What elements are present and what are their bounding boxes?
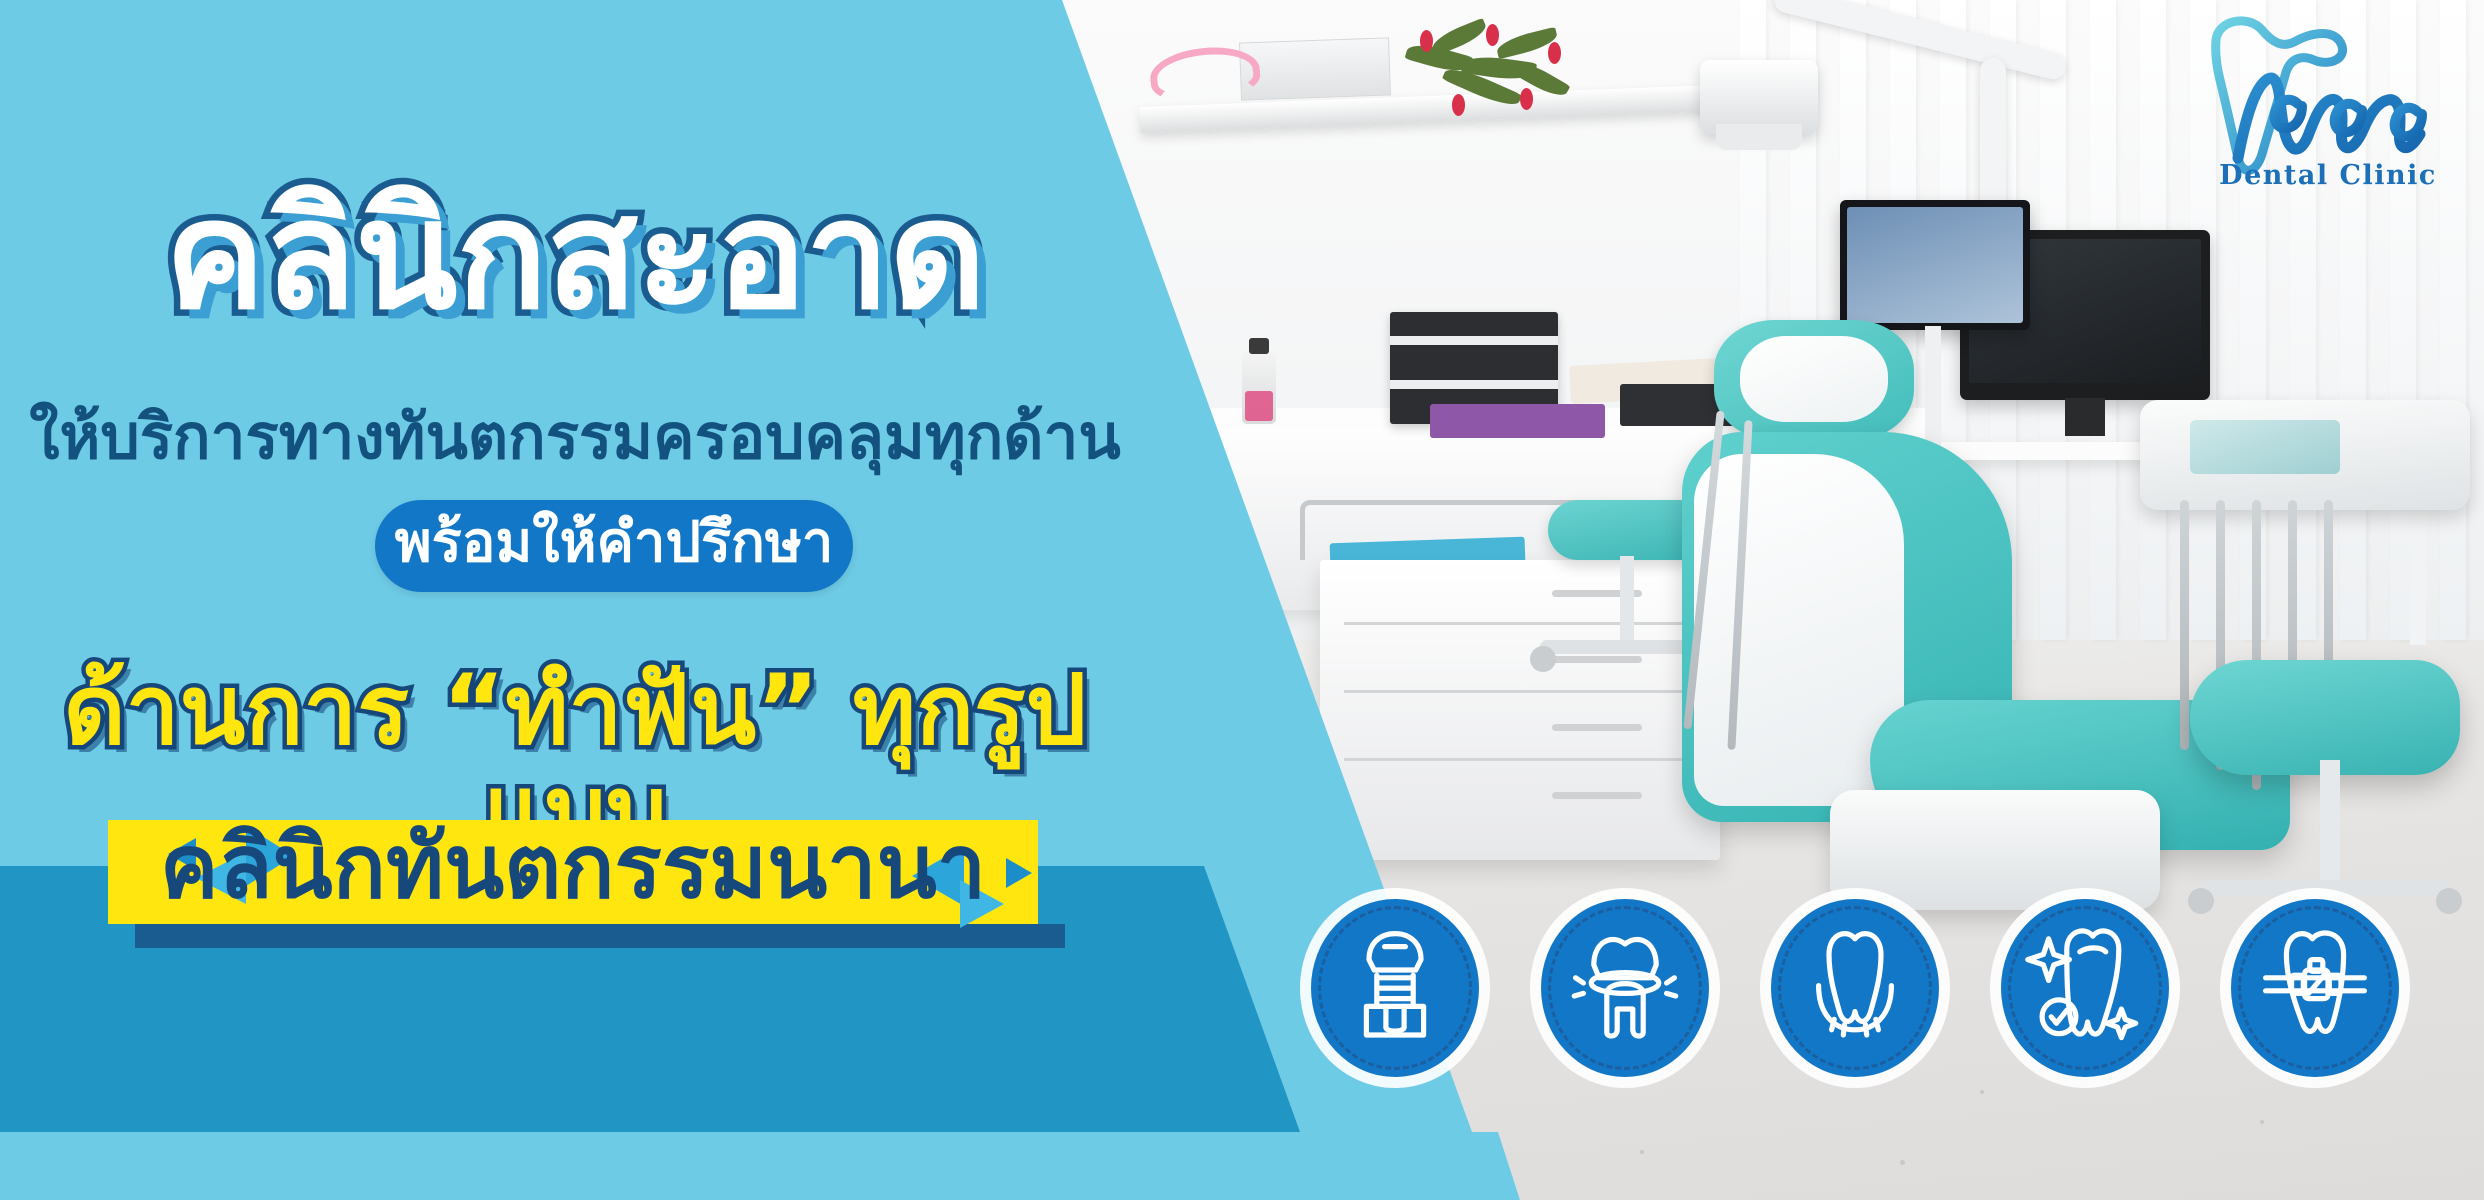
chairside-monitor — [1840, 200, 2030, 330]
logo-subtitle: Dental Clinic — [2219, 160, 2437, 191]
consultation-pill-label: พร้อมให้คำปรึกษา — [395, 515, 834, 578]
service-icon-whitening[interactable] — [1990, 888, 2180, 1088]
suction-hose — [2180, 500, 2189, 750]
overhead-dental-light — [1700, 60, 1818, 134]
instrument-control-panel — [2190, 420, 2340, 474]
stool-pole — [2320, 760, 2340, 890]
dental-crown-icon — [1560, 918, 1690, 1048]
stool-pole — [1620, 556, 1634, 646]
hero-text-block: คลินิกสะอาด ให้บริการทางทันตกรรมครอบคลุม… — [0, 0, 1150, 1200]
service-icon-crown[interactable] — [1530, 888, 1720, 1088]
purple-supply-box — [1430, 404, 1605, 438]
stool-caster — [1530, 646, 1556, 672]
dental-implant-icon — [1330, 918, 1460, 1048]
potted-plant — [1400, 22, 1590, 118]
clinic-name-label: คลินิกทันตกรรมนานา — [108, 820, 1038, 924]
consultation-pill-button[interactable]: พร้อมให้คำปรึกษา — [375, 500, 853, 592]
teeth-whitening-icon — [2020, 918, 2150, 1048]
nana-dental-clinic-logo[interactable]: Dental Clinic — [2186, 8, 2458, 198]
page-title: คลินิกสะอาด — [0, 178, 1150, 334]
mouthwash-bottle — [1242, 352, 1276, 424]
hero-subtitle: ให้บริการทางทันตกรรมครอบคลุมทุกด้าน — [0, 388, 1150, 486]
service-icon-implant[interactable] — [1300, 888, 1490, 1088]
gum-treatment-icon — [1790, 918, 1920, 1048]
braces-icon — [2250, 918, 2380, 1048]
clinic-name-bar-shadow — [135, 924, 1065, 948]
service-icons-row — [1300, 888, 2440, 1098]
patient-stool — [2190, 660, 2460, 775]
shelf-box — [1239, 37, 1391, 100]
service-icon-gum[interactable] — [1760, 888, 1950, 1088]
service-icon-braces[interactable] — [2220, 888, 2410, 1088]
dental-clinic-banner: คลินิกสะอาด ให้บริการทางทันตกรรมครอบคลุม… — [0, 0, 2484, 1200]
